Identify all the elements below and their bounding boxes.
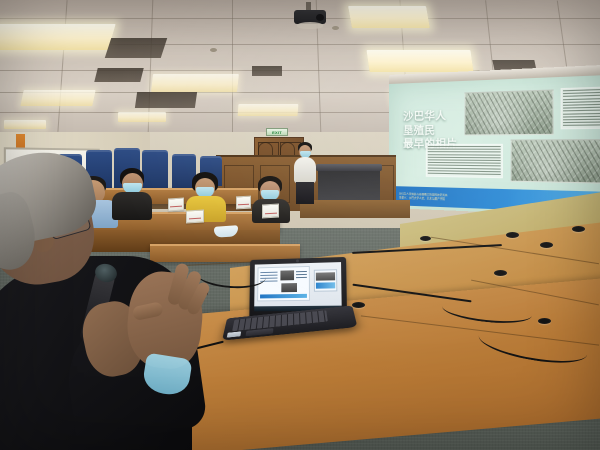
slide-historical-photo-1 (465, 90, 554, 136)
slide-thumbnail-panel[interactable] (314, 269, 338, 292)
exit-sign: EXIT (266, 128, 288, 136)
ceiling-light-10 (4, 120, 46, 129)
slide-footer-bar (260, 294, 306, 299)
thumbnail-footer (316, 282, 335, 288)
name-card-2 (236, 196, 251, 210)
cable-grommet-7 (420, 236, 431, 241)
speaker (0, 160, 226, 450)
ceiling-vent-2 (94, 68, 143, 82)
keyboard[interactable] (232, 310, 328, 331)
conference-room-photo: 沙巴华人 垦殖民 最早的相片 沙巴华人垦殖民与基督教巴色会的历史关系 主讲人：沙… (0, 0, 600, 450)
cable-grommet-1 (506, 232, 519, 238)
webcam-icon (296, 259, 299, 262)
ceiling-light-6 (238, 104, 299, 116)
exit-sign-text: EXIT (272, 130, 282, 135)
ceiling-light-9 (118, 112, 166, 122)
cable-grommet-4 (494, 270, 507, 276)
standing-person-torso (294, 157, 316, 183)
name-card-3 (262, 204, 279, 219)
standing-person-legs (296, 182, 314, 204)
laptop-sticker (227, 331, 241, 337)
ceiling-light-2 (348, 6, 430, 28)
projector-lens (316, 14, 324, 21)
sprinkler-head (332, 26, 339, 30)
sprinkler-head-2 (210, 48, 217, 52)
ceiling-light-1 (0, 24, 116, 50)
slide-image-a (280, 271, 294, 281)
projector-ceiling-plate (297, 22, 323, 29)
ceiling-vent-3 (135, 92, 197, 108)
thumbnail-image (316, 272, 335, 280)
lectern-top (316, 164, 382, 171)
standing-person (292, 142, 318, 204)
slide-historical-photo-2 (510, 139, 600, 184)
screen-surface: 沙巴华人 垦殖民 最早的相片 沙巴华人垦殖民与基督教巴色会的历史关系 主讲人：沙… (389, 75, 600, 218)
ceiling-light-4 (151, 74, 239, 92)
cable-grommet-3 (572, 226, 585, 232)
slide-chinese-text-block-2 (426, 143, 503, 178)
text-lines (428, 145, 501, 175)
cable-grommet-5 (538, 318, 551, 324)
slide-image-b (281, 283, 296, 292)
slide-text-block (296, 271, 307, 280)
ceiling-vent-1 (105, 38, 167, 58)
slide-chinese-text-block-1 (561, 86, 600, 129)
photo-texture (511, 140, 600, 183)
ceiling-vent-4 (252, 66, 282, 76)
cable-grommet-2 (540, 242, 553, 248)
ceiling-light-3 (366, 50, 473, 72)
ceiling-light-5 (20, 90, 95, 106)
projection-screen: 沙巴华人 垦殖民 最早的相片 沙巴华人垦殖民与基督教巴色会的历史关系 主讲人：沙… (389, 75, 600, 218)
laptop-screen[interactable] (254, 262, 342, 311)
ceiling-projector (293, 2, 327, 28)
text-lines (563, 89, 600, 128)
name-card-line (265, 213, 277, 215)
thumb (132, 301, 164, 321)
name-card-line (238, 204, 248, 206)
photo-texture (466, 91, 552, 135)
